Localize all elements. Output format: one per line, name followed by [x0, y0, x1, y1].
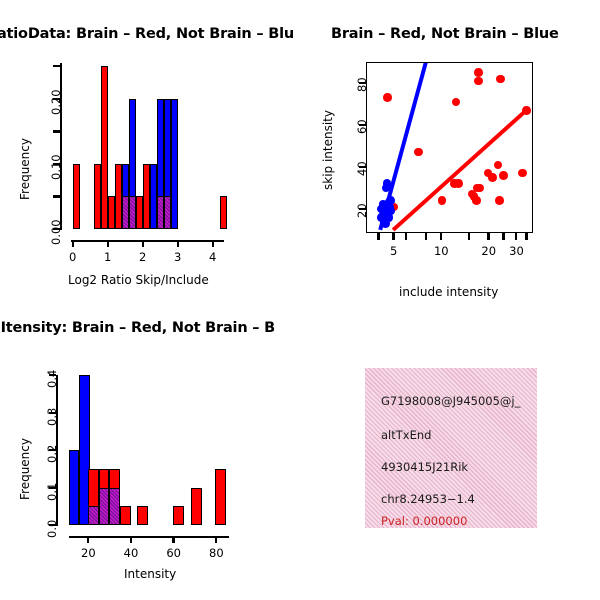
- x-tick-20: [87, 536, 89, 543]
- panel-title: ne Itensity: Brain – Red, Not Brain – B: [0, 320, 275, 336]
- x-axis-line: [69, 536, 229, 538]
- scatter-point-brain: [454, 179, 463, 188]
- y-axis-title: Frequency: [18, 138, 32, 200]
- scatter-point-brain: [452, 98, 461, 107]
- ratio-bar-brain: [94, 164, 101, 229]
- y-tick-label-0.4: 0.4: [45, 370, 59, 388]
- intensity-bar-brain: [120, 506, 131, 525]
- ratio-bar-brain: [101, 66, 108, 229]
- ratio-bar-overlap: [122, 196, 129, 229]
- info-line-3: 4930415J21Rik: [381, 460, 468, 474]
- x-tick-40: [130, 536, 132, 543]
- x-tick-label-5: 5: [390, 244, 397, 258]
- scatter-fit-brain: [392, 109, 527, 231]
- scatter-point-brain: [475, 184, 484, 193]
- y-tick-0.25: [53, 65, 60, 67]
- x-tick-label-40: 40: [124, 546, 139, 560]
- x-axis-title: Intensity: [124, 567, 176, 581]
- scatter-point-brain: [474, 77, 483, 86]
- x-tick-1: [107, 240, 109, 247]
- x-tick-4: [377, 233, 379, 240]
- intensity-bar-brain: [215, 469, 226, 525]
- x-tick-30: [515, 233, 517, 240]
- x-tick-5: [392, 233, 394, 240]
- x-tick-label-80: 80: [209, 546, 224, 560]
- panel-intensity-histogram: ne Itensity: Brain – Red, Not Brain – B2…: [0, 300, 300, 600]
- info-pval: Pval: 0.000000: [381, 514, 467, 528]
- x-tick-8: [425, 233, 427, 240]
- info-box: G7198008@J945005@j_altTxEnd4930415J21Rik…: [365, 368, 537, 528]
- ratio-bar-brain: [143, 164, 150, 229]
- scatter-point-brain: [496, 75, 505, 84]
- info-line-1: G7198008@J945005@j_: [381, 394, 520, 408]
- y-tick-label-40: 40: [355, 161, 369, 176]
- scatter-point-brain: [488, 173, 497, 182]
- x-axis-line: [71, 240, 223, 242]
- x-tick-label-20: 20: [481, 244, 496, 258]
- info-line-4: chr8.24953−1.4: [381, 492, 475, 506]
- ratio-bar-brain: [220, 196, 227, 229]
- intensity-bar-not-brain: [69, 450, 80, 525]
- ratio-bar-overlap: [164, 196, 171, 229]
- scatter-point-brain: [495, 196, 504, 205]
- scatter-point-brain: [499, 171, 508, 180]
- x-tick-60: [172, 536, 174, 543]
- y-axis-title: Frequency: [18, 438, 32, 500]
- panel-intensity-scatter: Brain – Red, Not Brain – Blue51020302040…: [300, 0, 600, 300]
- info-panel: G7198008@J945005@j_altTxEnd4930415J21Rik…: [300, 300, 600, 600]
- scatter-point-brain: [414, 148, 423, 157]
- y-tick-label-0.2: 0.20: [49, 89, 63, 115]
- x-tick-25: [502, 233, 504, 240]
- y-tick-0.05: [53, 195, 60, 197]
- ratio-bar-overlap: [129, 196, 136, 229]
- y-tick-label-0.2: 0.2: [45, 445, 59, 463]
- intensity-bar-brain: [137, 506, 148, 525]
- y-tick-label-0: 0.00: [49, 219, 63, 245]
- y-tick-label-0: 0.0: [45, 520, 59, 538]
- scatter-point-brain: [472, 196, 481, 205]
- x-tick-20: [487, 233, 489, 240]
- info-line-2: altTxEnd: [381, 428, 431, 442]
- x-tick-label-60: 60: [166, 546, 181, 560]
- x-tick-35: [525, 233, 527, 240]
- x-tick-80: [215, 536, 217, 543]
- x-tick-label-4: 4: [209, 250, 216, 264]
- scatter-point-brain: [474, 68, 483, 77]
- y-tick-label-20: 20: [355, 203, 369, 218]
- x-tick-15: [468, 233, 470, 240]
- intensity-bar-overlap: [109, 488, 120, 526]
- figure-canvas: RatioData: Brain – Red, Not Brain – Blu0…: [0, 0, 600, 600]
- x-tick-3: [177, 240, 179, 247]
- x-tick-label-0: 0: [69, 250, 76, 264]
- ratio-bar-brain: [136, 196, 143, 229]
- x-tick-10: [440, 233, 442, 240]
- y-tick-label-0.3: 0.3: [45, 407, 59, 425]
- intensity-bar-overlap: [99, 488, 110, 526]
- x-tick-0: [72, 240, 74, 247]
- ratio-bar-brain: [108, 196, 115, 229]
- y-axis-line: [60, 63, 62, 230]
- panel-ratio-histogram: RatioData: Brain – Red, Not Brain – Blu0…: [0, 0, 300, 300]
- y-tick-label-0.1: 0.10: [49, 154, 63, 180]
- ratio-bar-brain: [115, 164, 122, 229]
- scatter-point-brain: [494, 161, 503, 170]
- x-tick-4: [212, 240, 214, 247]
- x-tick-label-10: 10: [434, 244, 449, 258]
- panel-title: Brain – Red, Not Brain – Blue: [331, 26, 559, 42]
- y-axis-title: skip intensity: [321, 110, 335, 190]
- scatter-point-brain: [438, 196, 447, 205]
- scatter-data-area: [367, 63, 532, 232]
- x-axis-title: Log2 Ratio Skip/Include: [68, 273, 209, 287]
- y-tick-label-80: 80: [355, 77, 369, 92]
- x-axis-title: include intensity: [399, 285, 498, 299]
- y-tick-label-0.1: 0.1: [45, 482, 59, 500]
- x-tick-label-1: 1: [104, 250, 111, 264]
- x-tick-label-30: 30: [509, 244, 524, 258]
- y-tick-0.15: [53, 130, 60, 132]
- x-tick-label-2: 2: [139, 250, 146, 264]
- x-tick-2: [142, 240, 144, 247]
- x-tick-label-3: 3: [174, 250, 181, 264]
- intensity-bar-brain: [173, 506, 184, 525]
- x-tick-6: [405, 233, 407, 240]
- ratio-bar-not-brain: [150, 164, 157, 229]
- ratio-bar-brain: [73, 164, 80, 229]
- panel-title: RatioData: Brain – Red, Not Brain – Blu: [0, 26, 294, 42]
- scatter-point-brain: [383, 93, 392, 102]
- ratio-bar-not-brain: [171, 99, 178, 229]
- scatter-point-brain: [518, 169, 527, 178]
- ratio-bar-overlap: [157, 196, 164, 229]
- y-tick-label-60: 60: [355, 119, 369, 134]
- intensity-bar-overlap: [88, 506, 99, 525]
- x-tick-label-20: 20: [81, 546, 96, 560]
- intensity-bar-brain: [191, 488, 202, 526]
